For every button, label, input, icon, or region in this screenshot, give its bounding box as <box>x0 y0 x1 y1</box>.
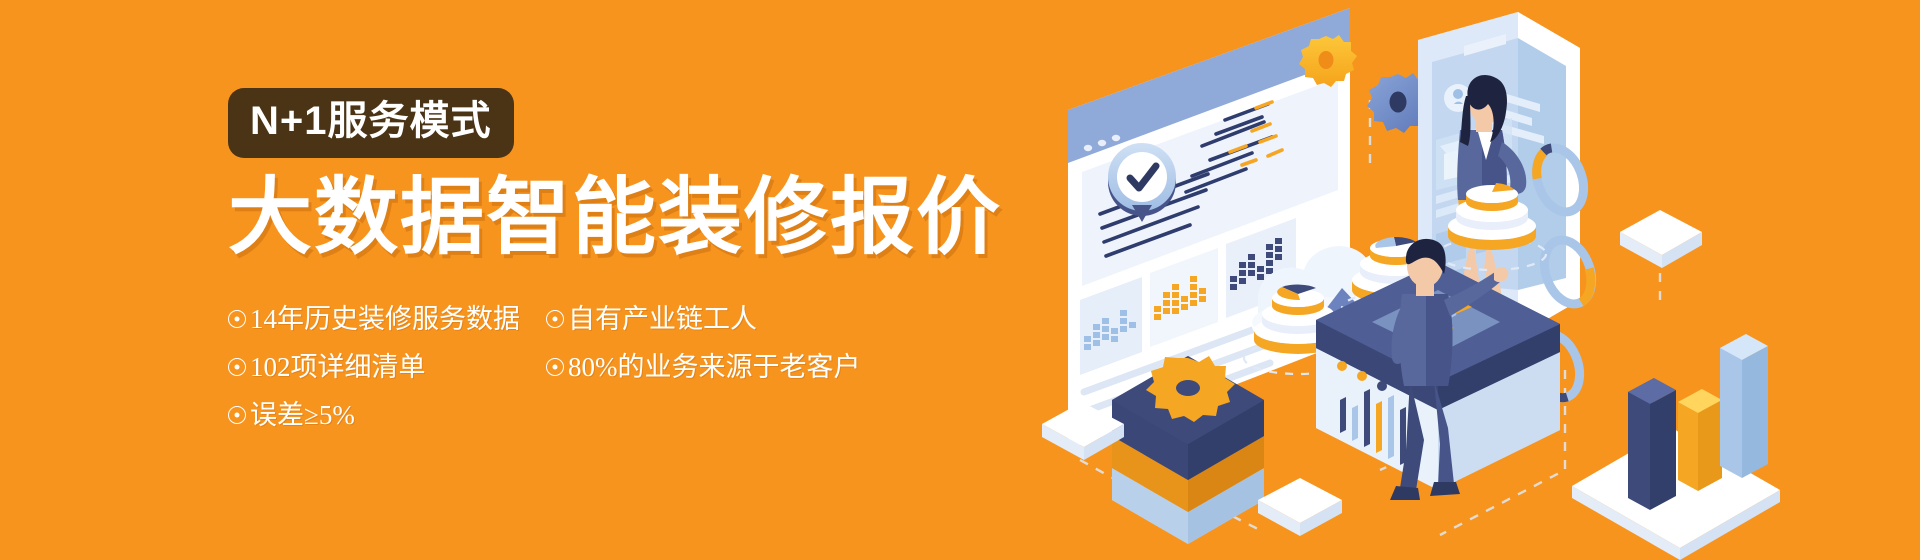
target-dot-icon <box>546 358 564 376</box>
service-model-badge: N+1服务模式 <box>228 88 514 158</box>
list-item-label: 自有产业链工人 <box>568 306 757 333</box>
list-item: 80%的业务来源于老客户 <box>546 354 988 381</box>
target-dot-icon <box>228 358 246 376</box>
target-dot-icon <box>546 310 564 328</box>
list-item-label: 102项详细清单 <box>250 354 426 381</box>
feature-bullet-list: 14年历史装修服务数据 自有产业链工人 102项详细清单 80%的业务来源于老客… <box>228 295 988 439</box>
list-item: 误差≥5% <box>228 402 546 429</box>
banner-headline: 大数据智能装修报价 <box>228 174 988 261</box>
list-item: 102项详细清单 <box>228 354 546 381</box>
list-item: 14年历史装修服务数据 <box>228 306 546 333</box>
target-dot-icon <box>228 406 246 424</box>
bar-chart-3d <box>1572 334 1780 560</box>
banner-text-block: N+1服务模式 大数据智能装修报价 14年历史装修服务数据 自有产业链工人 10… <box>228 88 988 439</box>
floating-tile <box>1620 210 1702 268</box>
list-item: 自有产业链工人 <box>546 306 988 333</box>
floating-tile <box>1258 478 1342 536</box>
target-dot-icon <box>228 310 246 328</box>
list-item-label: 误差≥5% <box>250 402 355 429</box>
isometric-big-data-illustration <box>1020 0 1920 560</box>
list-item-label: 14年历史装修服务数据 <box>250 306 520 333</box>
list-item-label: 80%的业务来源于老客户 <box>568 354 861 381</box>
promo-banner: N+1服务模式 大数据智能装修报价 14年历史装修服务数据 自有产业链工人 10… <box>0 0 1920 560</box>
